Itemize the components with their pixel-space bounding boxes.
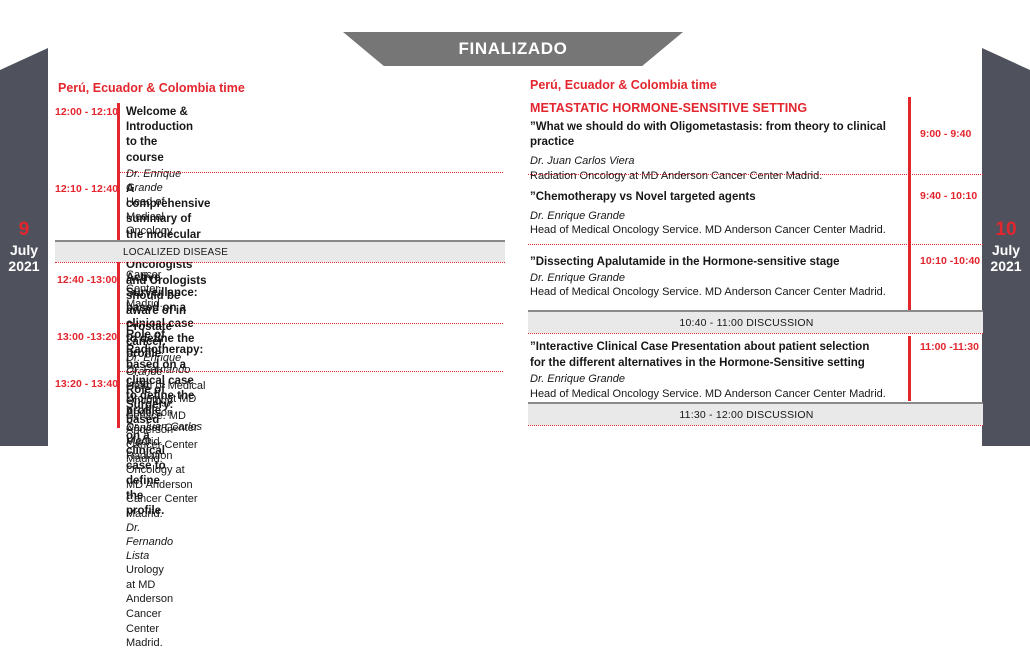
- session-time: 9:00 - 9:40: [920, 128, 971, 140]
- session-separator: [528, 174, 983, 175]
- timeline-spine-right-lower: [908, 336, 911, 401]
- day-tab-right: 10 July 2021: [982, 48, 1030, 446]
- day-month-left: July: [10, 242, 38, 259]
- timezone-heading-right: Perú, Ecuador & Colombia time: [530, 78, 717, 92]
- session-speaker: Dr. Enrique Grande: [530, 372, 902, 386]
- session-affiliation: Radiation Oncology at MD Anderson Cancer…: [530, 169, 902, 184]
- session-affiliation: Urology at MD Anderson Cancer Center Mad…: [126, 563, 173, 650]
- session-separator: [528, 425, 983, 426]
- day-year-left: 2021: [8, 258, 39, 275]
- session-affiliation: Head of Medical Oncology Service. MD And…: [530, 387, 902, 402]
- day-tab-left: 9 July 2021: [0, 48, 48, 446]
- day-number-left: 9: [19, 219, 30, 241]
- session-body: Role of Surgery: based on a clinical cas…: [126, 383, 173, 651]
- session-separator: [528, 244, 983, 245]
- session-title: Role of Surgery: based on a clinical cas…: [126, 383, 173, 520]
- session-affiliation: Head of Medical Oncology Service. MD And…: [530, 285, 902, 300]
- session-title: ”Dissecting Apalutamide in the Hormone-s…: [530, 255, 902, 270]
- session-time: 12:00 - 12:10: [55, 106, 118, 118]
- session-separator: [528, 333, 983, 334]
- session-body: ”Chemotherapy vs Novel targeted agents D…: [530, 190, 902, 238]
- session-time: 13:00 -13:20: [57, 331, 117, 343]
- session-speaker: Dr. Enrique Grande: [530, 271, 902, 285]
- session-affiliation: Head of Medical Oncology Service. MD And…: [530, 223, 902, 238]
- day-number-right: 10: [995, 219, 1016, 241]
- session-speaker: Dr. Fernando Lista: [126, 521, 173, 564]
- session-body: ”Interactive Clinical Case Presentation …: [530, 340, 902, 401]
- section-band-label: LOCALIZED DISEASE: [123, 247, 228, 258]
- session-time: 10:10 -10:40: [920, 255, 980, 267]
- discussion-band: 10:40 - 11:00 DISCUSSION: [528, 310, 983, 333]
- session-separator: [55, 262, 505, 263]
- status-banner-label: FINALIZADO: [459, 39, 568, 59]
- session-separator: [117, 371, 503, 372]
- discussion-band-label: 10:40 - 11:00 DISCUSSION: [679, 317, 813, 329]
- session-title: ”Interactive Clinical Case Presentation …: [530, 340, 902, 355]
- session-time: 9:40 - 10:10: [920, 190, 977, 202]
- session-title: for the different alternatives in the Ho…: [530, 356, 902, 371]
- session-time: 11:00 -11:30: [920, 341, 979, 353]
- discussion-band-label: 11:30 - 12:00 DISCUSSION: [679, 409, 813, 421]
- session-title: ”What we should do with Oligometastasis:…: [530, 120, 902, 150]
- session-time: 12:10 - 12:40: [55, 183, 118, 195]
- status-banner: FINALIZADO: [343, 32, 683, 66]
- session-title: ”Chemotherapy vs Novel targeted agents: [530, 190, 902, 205]
- discussion-band: 11:30 - 12:00 DISCUSSION: [528, 402, 983, 425]
- session-speaker: Dr. Juan Carlos Viera: [530, 154, 902, 168]
- section-band-localized-disease: LOCALIZED DISEASE: [55, 240, 505, 262]
- session-body: ”Dissecting Apalutamide in the Hormone-s…: [530, 255, 902, 300]
- timeline-spine-right-upper: [908, 97, 911, 313]
- day-year-right: 2021: [990, 258, 1021, 275]
- session-speaker: Dr. Enrique Grande: [530, 209, 902, 223]
- section-heading-metastatic: METASTATIC HORMONE-SENSITIVE SETTING: [530, 101, 807, 115]
- session-time: 13:20 - 13:40: [55, 378, 118, 390]
- timezone-heading-left: Perú, Ecuador & Colombia time: [58, 81, 245, 95]
- session-title: Welcome & Introduction to the course: [126, 105, 193, 166]
- session-separator: [117, 172, 503, 173]
- session-time: 12:40 -13:00: [57, 274, 117, 286]
- day-month-right: July: [992, 242, 1020, 259]
- session-separator: [117, 323, 503, 324]
